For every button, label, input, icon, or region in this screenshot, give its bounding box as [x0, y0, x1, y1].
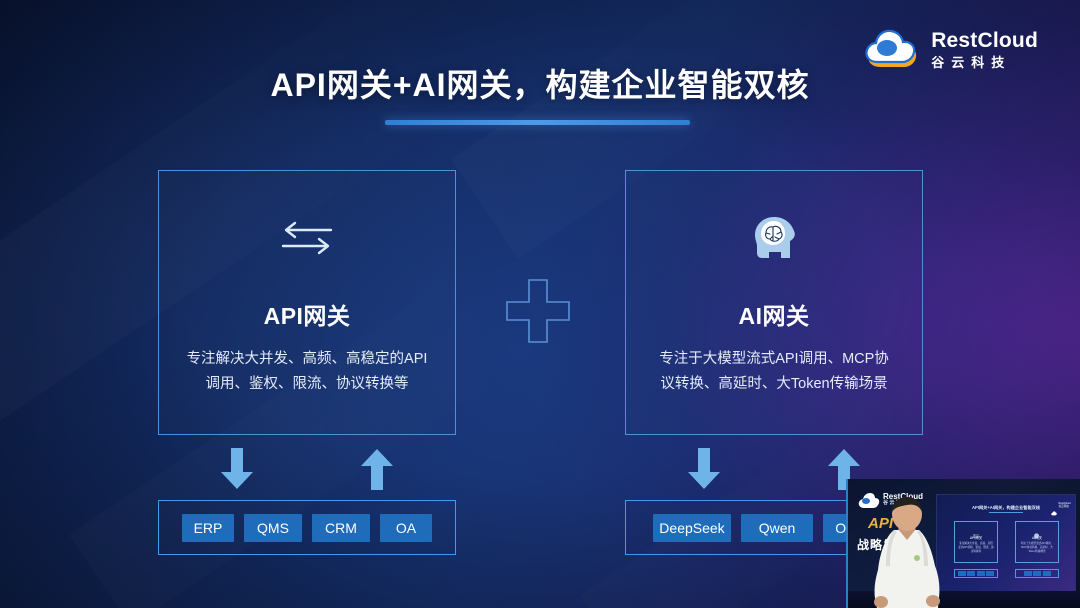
plus-icon — [505, 278, 571, 344]
presenter-webcam-overlay[interactable]: RestCloud 谷云科技 API 战略发布会 API网关+AI网关，构建企业… — [846, 479, 1080, 608]
brain-head-icon — [750, 215, 798, 261]
webcam-screen-tag — [1043, 571, 1051, 576]
tag-item[interactable]: Qwen — [741, 514, 813, 542]
webcam-screen-panel-right: AI网关 专注于大模型流式API调用、MCP协议转换、高延时、大Token传输场… — [1015, 521, 1059, 563]
tag-container-systems: ERP QMS CRM OA — [158, 500, 456, 555]
webcam-screen-logo: RestCloud 谷云科技 — [1051, 502, 1069, 508]
webcam-screen-logo-cn: 谷云科技 — [1059, 505, 1071, 508]
panel-title: API网关 — [264, 297, 351, 331]
tag-item[interactable]: DeepSeek — [653, 514, 731, 542]
panel-description-line: 调用、鉴权、限流、协议转换等 — [176, 372, 438, 397]
panel-description-line: 专注于大模型流式API调用、MCP协 — [643, 347, 905, 372]
webcam-screen-panel-desc: 专注于大模型流式API调用、MCP协议转换、高延时、大Token传输场景 — [1019, 542, 1055, 554]
webcam-screen-tag — [1024, 571, 1032, 576]
webcam-screen-logo-text: RestCloud 谷云科技 — [1059, 502, 1071, 508]
panel-description-line: 议转换、高延时、大Token传输场景 — [643, 372, 905, 397]
arrow-up-icon — [360, 448, 394, 490]
title-underline — [385, 120, 690, 125]
webcam-screen-tag — [977, 571, 985, 576]
bidirectional-arrows-icon — [279, 215, 335, 261]
panel-description-line: 专注解决大并发、高频、高稳定的API — [176, 347, 438, 372]
webcam-screen-tagbox — [1015, 569, 1059, 578]
webcam-screen-underline — [989, 512, 1023, 513]
column-api-gateway: API网关 专注解决大并发、高频、高稳定的API 调用、鉴权、限流、协议转换等 … — [158, 170, 456, 555]
tag-item[interactable]: ERP — [182, 514, 234, 542]
panel-description: 专注于大模型流式API调用、MCP协 议转换、高延时、大Token传输场景 — [643, 347, 905, 397]
arrow-down-icon — [220, 448, 254, 490]
webcam-screen-panel-left: API网关 专注解决大并发、高频、高稳定的API调用、鉴权、限流、协议转换等 — [954, 521, 998, 563]
webcam-screen-panel-title: API网关 — [955, 535, 997, 540]
webcam-screen-tag — [958, 571, 966, 576]
tag-item[interactable]: QMS — [244, 514, 302, 542]
webcam-screen-panel-desc: 专注解决大并发、高频、高稳定的API调用、鉴权、限流、协议转换等 — [958, 542, 994, 554]
tag-item[interactable]: CRM — [312, 514, 370, 542]
webcam-screen-tag — [967, 571, 975, 576]
page-title: API网关+AI网关，构建企业智能双核 — [0, 60, 1080, 106]
panel-title: AI网关 — [739, 297, 810, 331]
bidirectional-arrows-icon — [973, 526, 980, 532]
webcam-screen-tag — [1033, 571, 1041, 576]
panel-description: 专注解决大并发、高频、高稳定的API 调用、鉴权、限流、协议转换等 — [176, 347, 438, 397]
arrow-down-icon — [687, 448, 721, 490]
webcam-presentation-screen: API网关+AI网关，构建企业智能双核 RestCloud 谷云科技 — [936, 494, 1076, 592]
presenter-figure — [864, 496, 956, 608]
panel-api-gateway: API网关 专注解决大并发、高频、高稳定的API 调用、鉴权、限流、协议转换等 — [158, 170, 456, 435]
slide-canvas: RestCloud 谷云科技 API网关+AI网关，构建企业智能双核 API网关 — [0, 0, 1080, 608]
webcam-screen-tagbox — [954, 569, 998, 578]
tag-item[interactable]: OA — [380, 514, 432, 542]
panel-ai-gateway: AI网关 专注于大模型流式API调用、MCP协 议转换、高延时、大Token传输… — [625, 170, 923, 435]
webcam-screen-panel-title: AI网关 — [1016, 535, 1058, 540]
cloud-icon — [1051, 503, 1057, 508]
flow-arrows — [158, 446, 456, 494]
brain-head-icon — [1034, 526, 1041, 532]
webcam-screen-tag — [986, 571, 994, 576]
brand-name: RestCloud — [931, 30, 1038, 51]
